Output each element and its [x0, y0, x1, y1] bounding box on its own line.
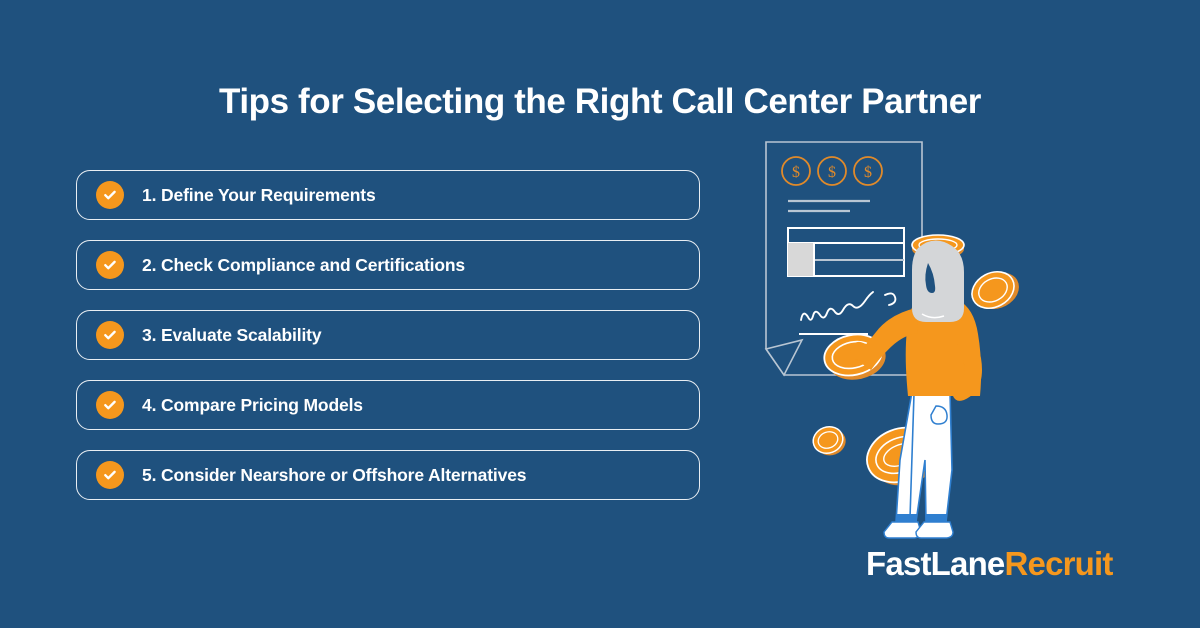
signature-mark — [801, 292, 895, 320]
list-item-label: 4. Compare Pricing Models — [142, 395, 363, 416]
list-item-label: 3. Evaluate Scalability — [142, 325, 321, 346]
check-circle-icon — [96, 461, 124, 489]
logo-text-accent: Recruit — [1004, 545, 1112, 582]
checklist: 1. Define Your Requirements 2. Check Com… — [76, 170, 700, 500]
coin-small-left — [809, 422, 849, 460]
list-item-label: 5. Consider Nearshore or Offshore Altern… — [142, 465, 526, 486]
document-table — [788, 228, 904, 276]
logo-text-primary: FastLane — [866, 545, 1004, 582]
check-circle-icon — [96, 251, 124, 279]
sock-right — [926, 514, 947, 522]
check-circle-icon — [96, 391, 124, 419]
brand-logo: FastLaneRecruit — [866, 544, 1113, 584]
person-signing — [850, 240, 982, 538]
check-circle-icon — [96, 181, 124, 209]
check-circle-icon — [96, 321, 124, 349]
list-item[interactable]: 1. Define Your Requirements — [76, 170, 700, 220]
shoe-left — [884, 522, 921, 538]
document-text-lines — [788, 201, 870, 211]
dollar-glyphs: $ $ $ — [792, 164, 872, 181]
svg-text:$: $ — [792, 164, 800, 181]
list-item[interactable]: 3. Evaluate Scalability — [76, 310, 700, 360]
list-item-label: 2. Check Compliance and Certifications — [142, 255, 465, 276]
poster-canvas: Tips for Selecting the Right Call Center… — [0, 0, 1200, 628]
person-pants — [896, 392, 952, 522]
list-item[interactable]: 4. Compare Pricing Models — [76, 380, 700, 430]
list-item-label: 1. Define Your Requirements — [142, 185, 376, 206]
list-item[interactable]: 5. Consider Nearshore or Offshore Altern… — [76, 450, 700, 500]
page-title: Tips for Selecting the Right Call Center… — [0, 79, 1200, 125]
svg-text:$: $ — [864, 164, 872, 181]
sock-left — [896, 514, 917, 522]
list-item[interactable]: 2. Check Compliance and Certifications — [76, 240, 700, 290]
contract-signing-illustration: $ $ $ — [740, 130, 1080, 540]
person-hair — [912, 240, 964, 322]
svg-text:$: $ — [828, 164, 836, 181]
coin-floating-right — [966, 263, 1026, 318]
shoe-right — [916, 522, 953, 538]
